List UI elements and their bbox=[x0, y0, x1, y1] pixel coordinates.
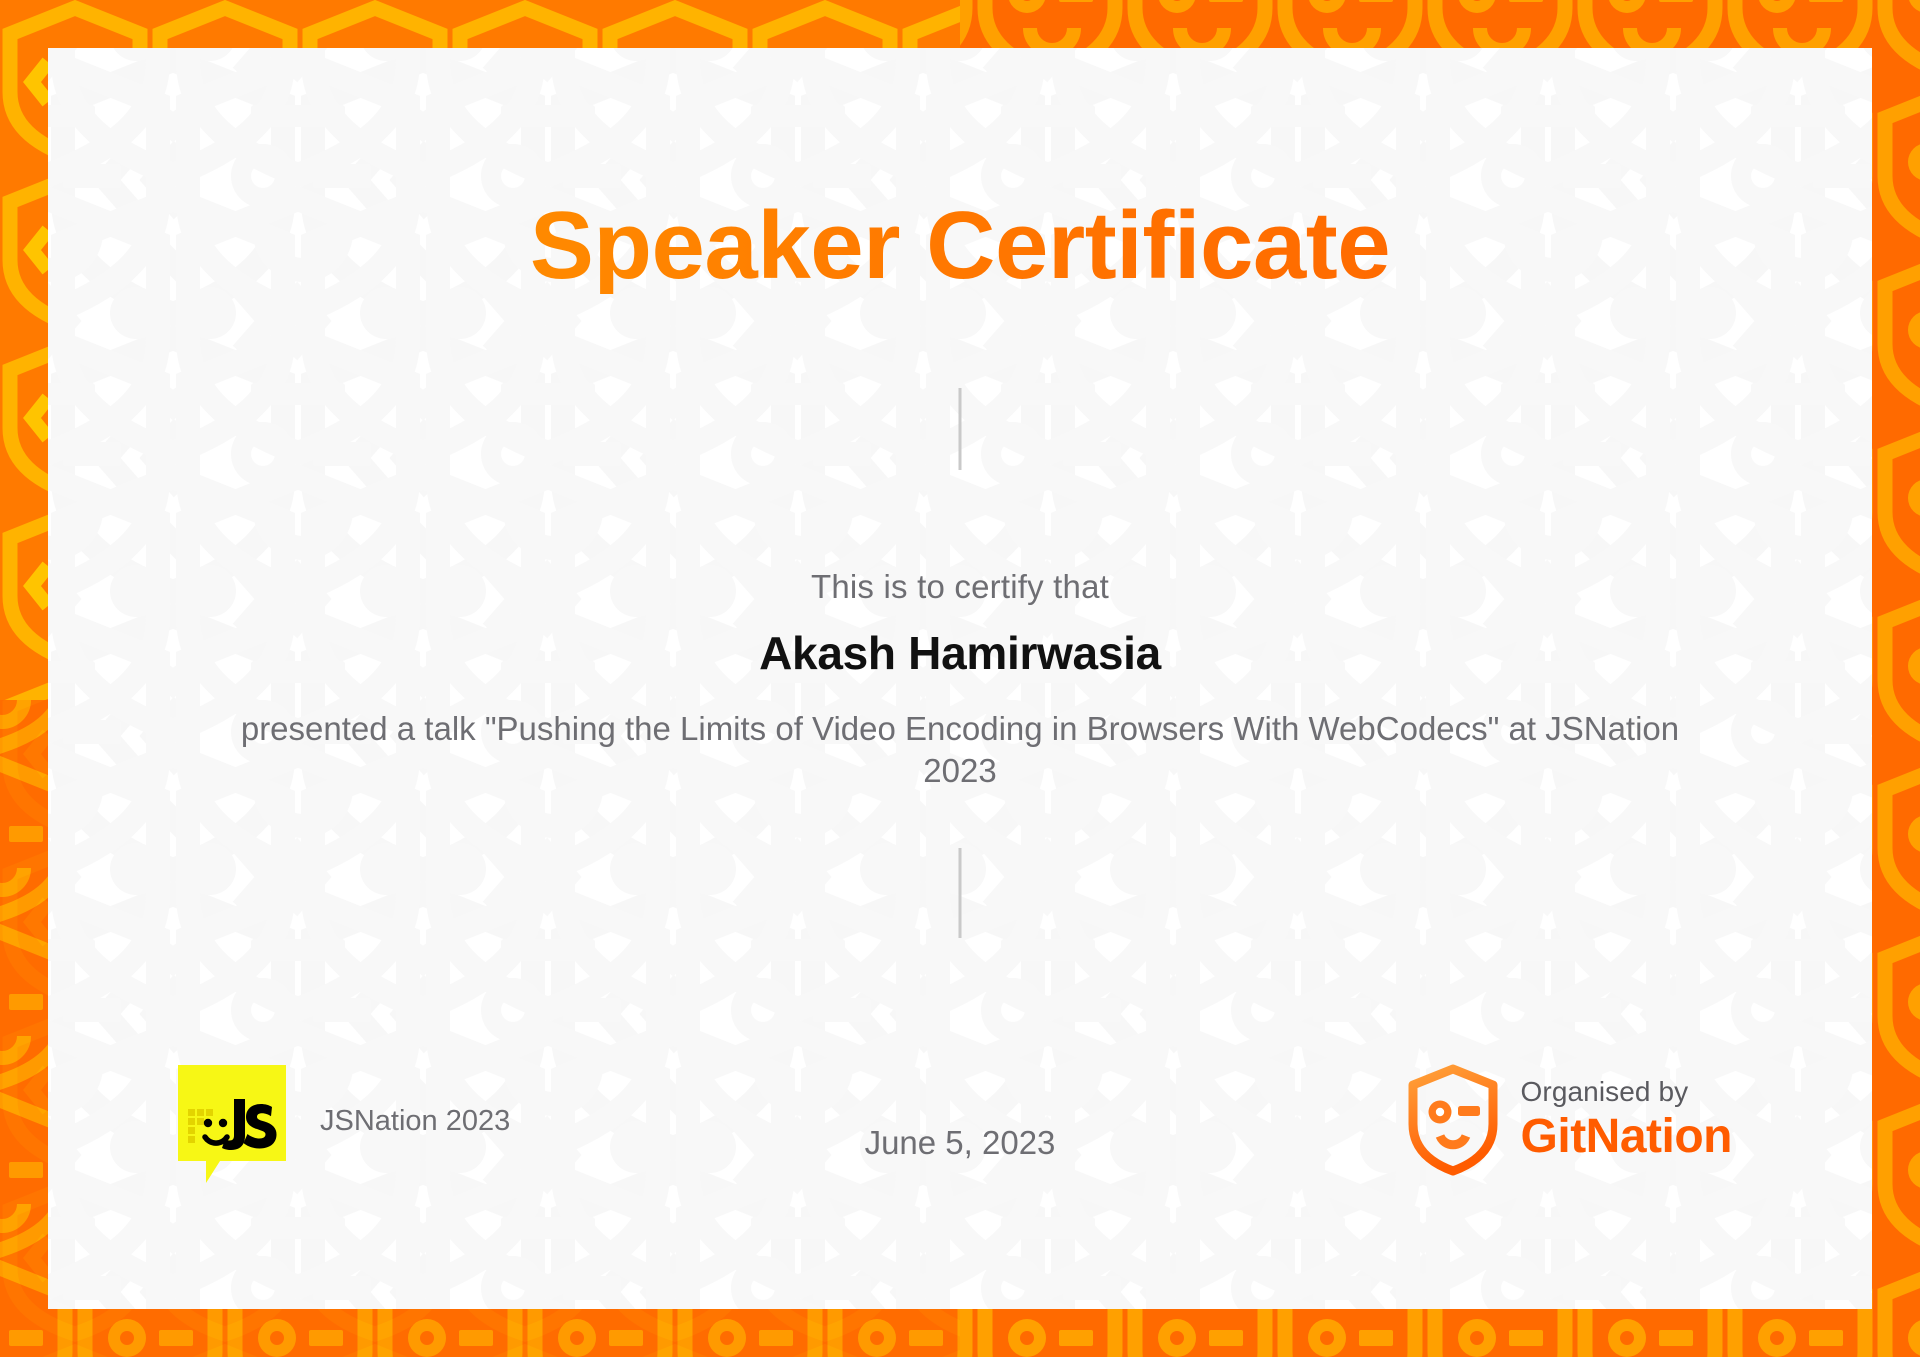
talk-description: presented a talk "Pushing the Limits of … bbox=[228, 708, 1692, 792]
divider-top bbox=[959, 388, 962, 470]
organised-by-label: Organised by bbox=[1521, 1076, 1732, 1108]
gitnation-shield-icon bbox=[1407, 1064, 1499, 1176]
page-title: Speaker Certificate bbox=[48, 198, 1872, 294]
organiser-branding: Organised by GitNation bbox=[1407, 1060, 1732, 1180]
organiser-name: GitNation bbox=[1521, 1109, 1732, 1164]
speaker-certificate: Speaker Certificate This is to certify t… bbox=[0, 0, 1920, 1357]
certify-line: This is to certify that bbox=[48, 568, 1872, 606]
certificate-card: Speaker Certificate This is to certify t… bbox=[48, 48, 1872, 1309]
divider-bottom bbox=[959, 848, 962, 938]
certificate-footer: JSNation 2023 June 5, 2023 bbox=[48, 1044, 1872, 1184]
recipient-name: Akash Hamirwasia bbox=[48, 626, 1872, 680]
organiser-text-block: Organised by GitNation bbox=[1521, 1076, 1732, 1163]
